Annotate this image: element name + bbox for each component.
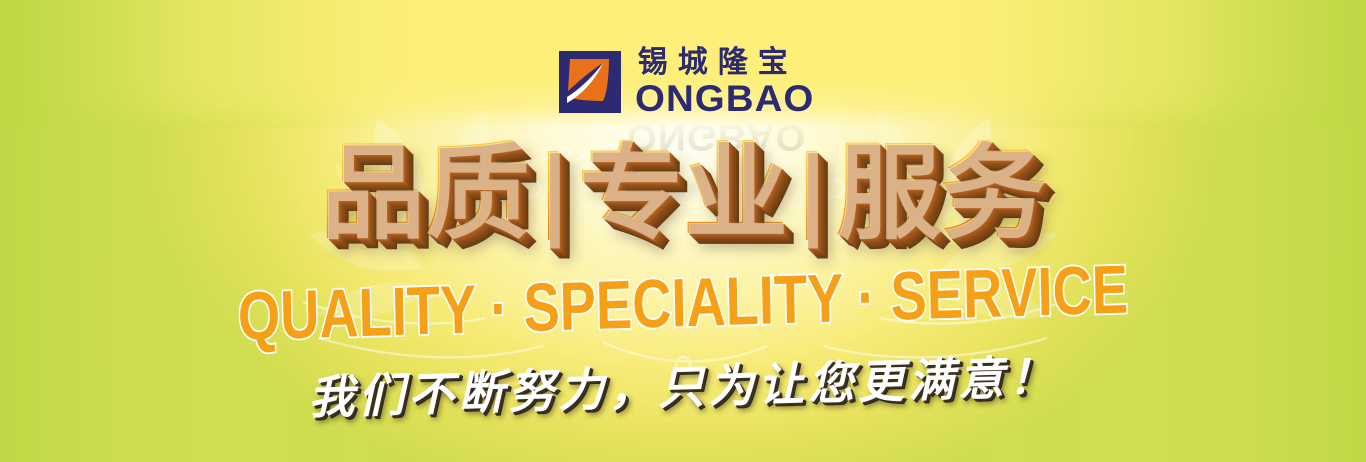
logo-company-cn: 锡城隆宝	[635, 48, 808, 78]
headline-word-quality: 品质	[320, 140, 530, 244]
english-strapline-text: QUALITY · SPECIALITY · SERVICE	[237, 255, 1128, 351]
headline-slogan: 品质 | 专业 | 服务	[0, 126, 1366, 258]
headline-word-service: 服务	[836, 140, 1046, 244]
company-logo[interactable]: 锡城隆宝 ONGBAO	[0, 46, 1366, 118]
headline-separator-2: |	[788, 144, 836, 240]
headline-separator-1: |	[530, 144, 578, 240]
bottom-tagline: 我们不断努力，只为让您更满意！	[0, 356, 1366, 418]
headline-words: 品质 | 专业 | 服务	[320, 140, 1046, 244]
longbao-sail-icon	[559, 51, 621, 113]
promotional-banner: ONGBAO 锡城隆宝 ONGBAO 品质 | 专业 | 服务 QUALITY …	[0, 0, 1366, 462]
english-strapline: QUALITY · SPECIALITY · SERVICE	[0, 268, 1366, 338]
logo-company-en: ONGBAO	[635, 80, 814, 117]
logo-wordmark: 锡城隆宝 ONGBAO	[635, 48, 808, 117]
bottom-tagline-text: 我们不断努力，只为让您更满意！	[308, 354, 1059, 421]
headline-word-speciality: 专业	[578, 140, 788, 244]
